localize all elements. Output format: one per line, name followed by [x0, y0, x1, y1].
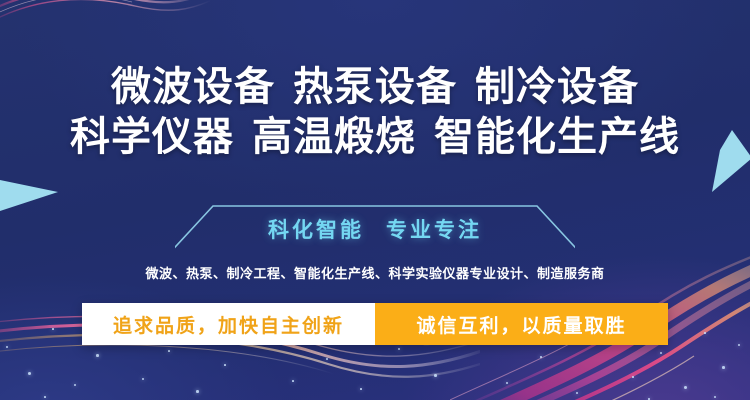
headline-word-3: 制冷设备: [475, 65, 639, 109]
slogan-button-integrity[interactable]: 诚信互利，以质量取胜: [375, 303, 668, 345]
headline-line-1: 微波设备热泵设备制冷设备: [0, 62, 750, 112]
headline-word-4: 科学仪器: [70, 115, 234, 159]
badge-slogan: 科化智能专业专注: [175, 214, 575, 244]
left-play-arrow-icon: [0, 178, 58, 212]
subline-description: 微波、热泵、制冷工程、智能化生产线、科学实验仪器专业设计、制造服务商: [0, 263, 750, 282]
headline-word-6: 智能化生产线: [434, 115, 680, 159]
headline-word-1: 微波设备: [111, 65, 275, 109]
slogan-button-quality[interactable]: 追求品质，加快自主创新: [82, 303, 375, 345]
headline-word-5: 高温煅烧: [252, 115, 416, 159]
promo-banner: 微波设备热泵设备制冷设备 科学仪器高温煅烧智能化生产线 科化智能专业专注 微波、…: [0, 0, 750, 400]
headline-word-2: 热泵设备: [293, 65, 457, 109]
headline-line-2: 科学仪器高温煅烧智能化生产线: [0, 112, 750, 162]
badge-slogan-left: 科化智能: [268, 219, 364, 242]
slogan-bar: 追求品质，加快自主创新 诚信互利，以质量取胜: [82, 303, 668, 345]
headline: 微波设备热泵设备制冷设备 科学仪器高温煅烧智能化生产线: [0, 62, 750, 162]
badge-slogan-right: 专业专注: [386, 219, 482, 242]
badge-trapezoid: 科化智能专业专注: [175, 200, 575, 260]
